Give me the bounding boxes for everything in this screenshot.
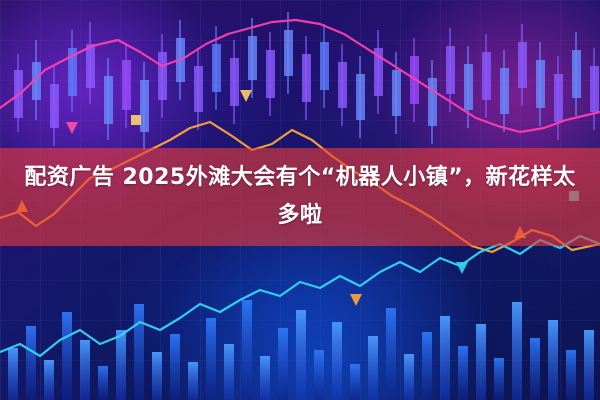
volume-bar (134, 304, 144, 400)
candle-body (590, 66, 599, 112)
volume-bar (242, 300, 252, 400)
marker-square (131, 115, 141, 125)
candle-body (554, 74, 563, 122)
candle-body (104, 76, 113, 124)
volume-bar (188, 362, 198, 400)
volume-bar (494, 358, 504, 400)
candle-body (248, 36, 257, 80)
volume-bar (440, 316, 450, 400)
candle-body (428, 78, 437, 126)
candle-body (446, 46, 455, 94)
volume-bar (566, 350, 576, 400)
volume-bar (80, 340, 90, 400)
candle-body (86, 44, 95, 88)
volume-bar (386, 308, 396, 400)
candle-body (194, 66, 203, 112)
volume-bar (206, 318, 216, 400)
volume-bar (62, 312, 72, 400)
lower-volume-bars (8, 300, 594, 400)
volume-bar (296, 310, 306, 400)
marker-triangle-down (456, 262, 468, 274)
candle-body (158, 52, 167, 100)
volume-bar (98, 366, 108, 400)
candle-body (536, 60, 545, 108)
candle-body (518, 42, 527, 88)
candle-body (230, 58, 239, 106)
candle-body (212, 44, 221, 92)
candle-body (572, 50, 581, 98)
candle-body (140, 80, 149, 132)
volume-bar (404, 354, 414, 400)
volume-bar (332, 322, 342, 400)
candle-body (266, 50, 275, 98)
candle-body (320, 42, 329, 90)
volume-bar (422, 332, 432, 400)
marker-triangle-down (240, 90, 252, 102)
marker-triangle-down (66, 122, 78, 134)
volume-bar (458, 346, 468, 400)
candle-body (482, 52, 491, 100)
volume-bar (260, 356, 270, 400)
volume-bar (548, 320, 558, 400)
candle-body (338, 62, 347, 108)
volume-bar (8, 348, 18, 400)
volume-bar (152, 352, 162, 400)
candle-body (122, 60, 131, 110)
volume-bar (476, 324, 486, 400)
candle-body (50, 84, 59, 128)
headline-text: 配资广告 2025外滩大会有个“机器人小镇”，新花样太多啦 (0, 159, 600, 235)
headline-banner: 配资广告 2025外滩大会有个“机器人小镇”，新花样太多啦 (0, 148, 600, 246)
volume-bar (314, 350, 324, 400)
volume-bar (278, 328, 288, 400)
volume-bar (26, 326, 36, 400)
candle-body (392, 70, 401, 116)
volume-bar (224, 344, 234, 400)
volume-bar (530, 338, 540, 400)
volume-bar (368, 336, 378, 400)
promo-banner-image: 配资广告 2025外滩大会有个“机器人小镇”，新花样太多啦 (0, 0, 600, 400)
candle-body (500, 68, 509, 114)
volume-bar (512, 302, 522, 400)
candle-body (356, 74, 365, 120)
candle-body (464, 64, 473, 110)
volume-bar (350, 364, 360, 400)
candle-body (302, 54, 311, 102)
candle-body (284, 30, 293, 76)
volume-bar (170, 334, 180, 400)
marker-triangle-down (350, 294, 362, 306)
volume-bar (116, 330, 126, 400)
volume-bar (44, 360, 54, 400)
volume-bar (584, 330, 594, 400)
